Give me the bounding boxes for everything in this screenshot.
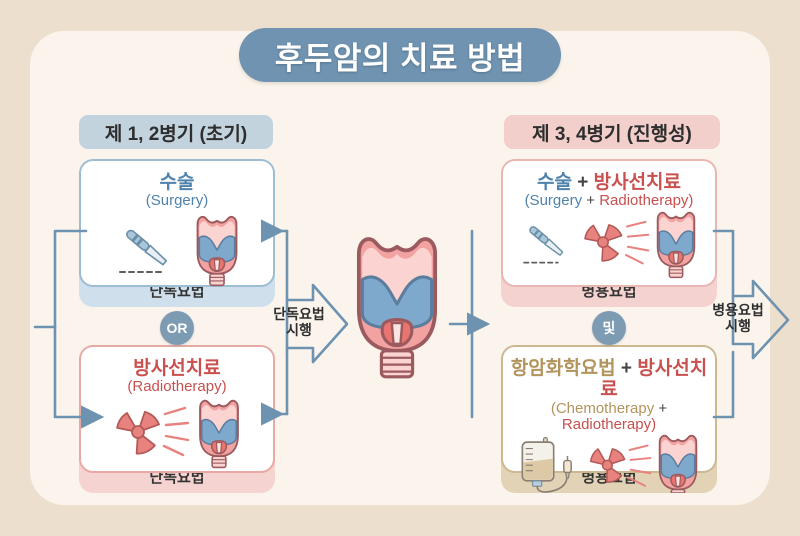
- larynx-icon: [653, 431, 703, 493]
- combination-arrow-label-line2: 시행: [707, 318, 769, 334]
- card-chemo-radiotherapy-body: 항암화학요법 + 방사선치료 (Chemotherapy + Radiother…: [501, 345, 717, 473]
- divider-and: 및: [592, 311, 626, 345]
- title-part-radiotherapy-en: Radiotherapy): [599, 192, 693, 209]
- card-chemo-radiotherapy-title-en: (Chemotherapy + Radiotherapy): [503, 401, 715, 435]
- title-plus-en: +: [586, 192, 595, 209]
- divider-and-label: 및: [603, 318, 616, 338]
- stage-header-early: 제 1, 2병기 (초기): [79, 115, 273, 149]
- card-surgery-title-ko: 수술: [81, 172, 273, 193]
- larynx-icon: [193, 396, 245, 470]
- title-part-chemo-en: (Chemotherapy: [551, 400, 654, 417]
- stage-header-advanced-label: 제 3, 4병기 (진행성): [532, 119, 692, 146]
- divider-or: OR: [160, 311, 194, 345]
- larynx-icon: [345, 229, 449, 379]
- monotherapy-arrow-label-line1: 단독요법: [268, 306, 330, 322]
- title-plus-en: +: [658, 400, 667, 417]
- center-larynx-graphic: [345, 229, 449, 384]
- title-part-radiotherapy-ko: 방사선치료: [600, 358, 707, 400]
- page-title: 후두암의 치료 방법: [239, 28, 561, 82]
- title-part-surgery-ko: 수술: [537, 172, 572, 193]
- card-surgery-radiotherapy-title-ko: 수술 + 방사선치료: [503, 172, 715, 193]
- monotherapy-arrow-label: 단독요법 시행: [268, 306, 330, 338]
- monotherapy-arrow-label-line2: 시행: [268, 322, 330, 338]
- title-part-surgery-en: (Surgery: [525, 192, 583, 209]
- radiation-icon: [585, 439, 653, 493]
- card-chemo-radiotherapy-icons: [503, 431, 715, 493]
- stage-header-early-label: 제 1, 2병기 (초기): [105, 119, 247, 146]
- card-surgery-radiotherapy-icons: [503, 208, 715, 280]
- page-title-text: 후두암의 치료 방법: [275, 33, 525, 78]
- card-surgery-radiotherapy[interactable]: 병용요법 수술 + 방사선치료 (Surgery + Radiotherapy): [501, 159, 717, 307]
- infographic-root: 후두암의 치료 방법 제 1, 2병기 (초기) 제 3, 4병기 (진행성) …: [0, 0, 800, 536]
- divider-or-label: OR: [167, 320, 188, 336]
- larynx-icon: [651, 208, 701, 280]
- card-surgery[interactable]: 단독요법 수술 (Surgery): [79, 159, 275, 307]
- card-chemo-radiotherapy[interactable]: 병용요법 항암화학요법 + 방사선치료 (Chemotherapy + Radi…: [501, 345, 717, 493]
- scalpel-icon: [110, 220, 184, 280]
- card-radiotherapy-title: 방사선치료 (Radiotherapy): [81, 358, 273, 396]
- card-radiotherapy-title-en: (Radiotherapy): [81, 379, 273, 396]
- title-part-chemo-ko: 항암화학요법: [511, 358, 616, 379]
- card-radiotherapy-icons: [81, 396, 273, 470]
- combination-arrow-label: 병용요법 시행: [707, 302, 769, 334]
- combination-arrow-label-line1: 병용요법: [707, 302, 769, 318]
- card-radiotherapy[interactable]: 단독요법 방사선치료 (Radiotherapy): [79, 345, 275, 493]
- iv-bag-icon: [515, 436, 585, 493]
- card-radiotherapy-title-ko: 방사선치료: [81, 358, 273, 379]
- larynx-icon: [190, 212, 244, 288]
- title-part-radiotherapy-en: Radiotherapy): [562, 416, 656, 433]
- card-surgery-title-en: (Surgery): [81, 193, 273, 210]
- radiation-icon: [109, 402, 191, 464]
- card-chemo-radiotherapy-title-ko: 항암화학요법 + 방사선치료: [503, 358, 715, 401]
- title-plus-ko: +: [577, 172, 588, 193]
- card-radiotherapy-body: 방사선치료 (Radiotherapy): [79, 345, 275, 473]
- title-plus-ko: +: [621, 358, 632, 379]
- stage-header-advanced: 제 3, 4병기 (진행성): [504, 115, 720, 149]
- card-surgery-radiotherapy-body: 수술 + 방사선치료 (Surgery + Radiotherapy): [501, 159, 717, 287]
- card-surgery-title: 수술 (Surgery): [81, 172, 273, 210]
- card-surgery-icons: [81, 212, 273, 288]
- scalpel-icon: [517, 215, 579, 273]
- card-surgery-body: 수술 (Surgery): [79, 159, 275, 287]
- card-chemo-radiotherapy-title: 항암화학요법 + 방사선치료 (Chemotherapy + Radiother…: [503, 358, 715, 434]
- title-part-radiotherapy-ko: 방사선치료: [594, 172, 681, 193]
- radiation-icon: [579, 216, 651, 272]
- card-surgery-radiotherapy-title: 수술 + 방사선치료 (Surgery + Radiotherapy): [503, 172, 715, 210]
